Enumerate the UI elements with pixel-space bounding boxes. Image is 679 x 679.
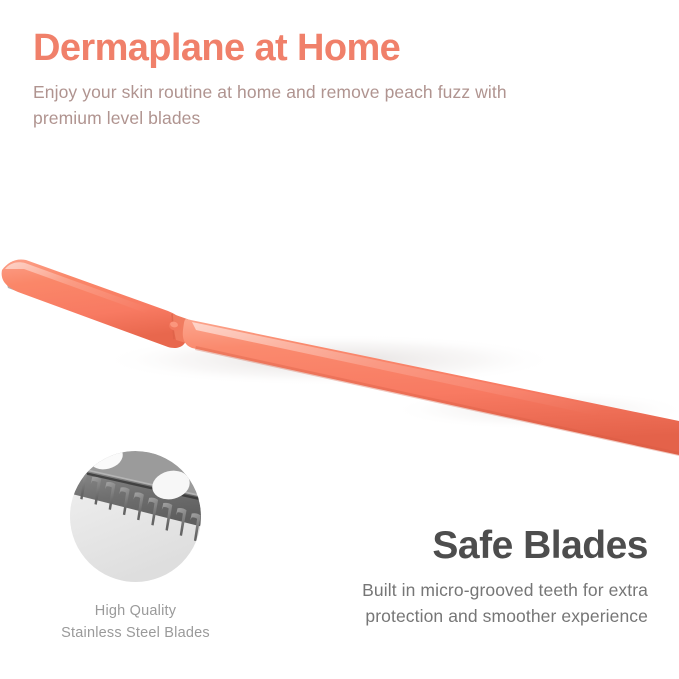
blade-detail-inset <box>70 451 201 582</box>
feature-body-line-2: protection and smoother experience <box>228 603 648 629</box>
product-infographic: Dermaplane at Home Enjoy your skin routi… <box>0 0 679 679</box>
page-title: Dermaplane at Home <box>33 28 553 68</box>
feature-text-block: Safe Blades Built in micro-grooved teeth… <box>228 526 648 629</box>
caption-line-1: High Quality <box>20 600 251 622</box>
blade-detail-circle <box>70 451 201 582</box>
feature-body-line-1: Built in micro-grooved teeth for extra <box>228 577 648 603</box>
blade-detail-caption: High Quality Stainless Steel Blades <box>20 600 251 645</box>
hero-subtitle: Enjoy your skin routine at home and remo… <box>33 80 513 132</box>
product-image-dermaplaning-razor <box>0 170 679 470</box>
feature-title: Safe Blades <box>228 526 648 567</box>
razor-head <box>2 259 186 348</box>
caption-line-2: Stainless Steel Blades <box>20 622 251 644</box>
feature-body: Built in micro-grooved teeth for extra p… <box>228 577 648 630</box>
hero-subtitle-line-1: Enjoy your skin routine at home and remo… <box>33 82 433 102</box>
hero-text-block: Dermaplane at Home Enjoy your skin routi… <box>33 28 553 132</box>
